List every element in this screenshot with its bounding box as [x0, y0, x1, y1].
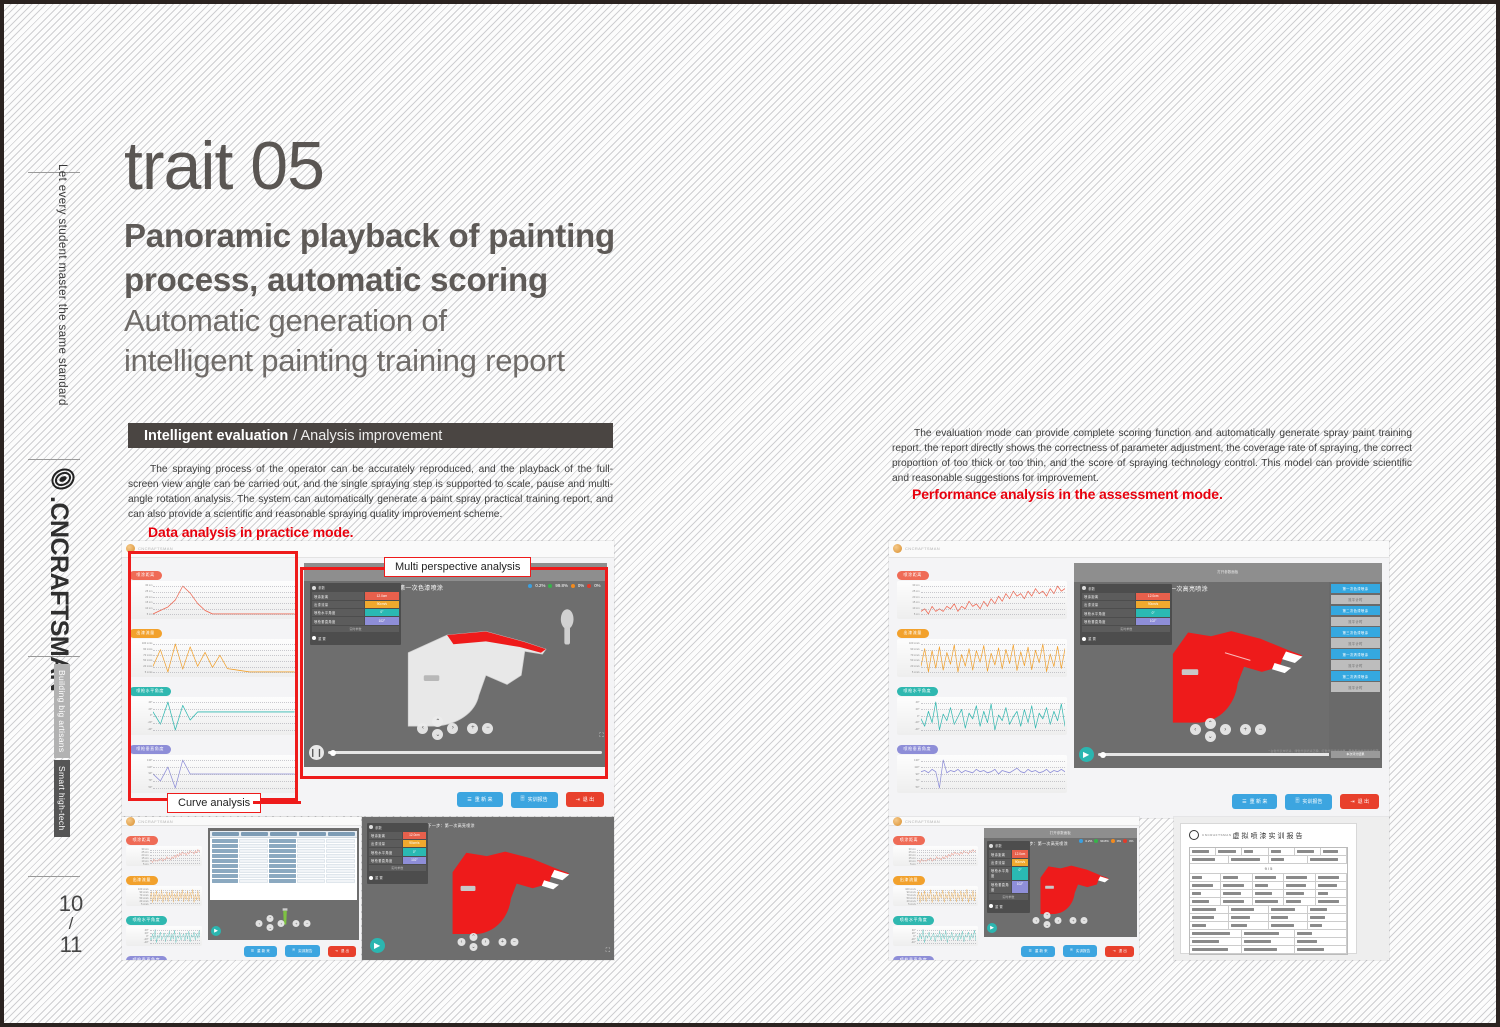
legend-value: 0.2%	[1085, 839, 1092, 843]
app-title: CNCRAFTSMAN	[138, 819, 173, 824]
report-cell	[1316, 874, 1347, 881]
play-button[interactable]: ▶	[370, 938, 385, 953]
report-document[interactable]: CNCRAFTSMAN 虚拟喷漆实训报告 9 / 5	[1180, 823, 1357, 954]
chart-line	[921, 699, 1065, 733]
report-cell-text	[1310, 924, 1322, 927]
left-red-caption: Data analysis in practice mode.	[148, 524, 353, 540]
nav-vertical-group[interactable]: ⌃ ⌄	[267, 915, 274, 931]
axis-tick: 40°	[899, 701, 920, 704]
legend-dot-icon	[1094, 839, 1098, 843]
thumbnail-coverage-view[interactable]: 下一步：第一次高亮喷涂 参数喷涂距离12.0cm出漆流量90cm/s喷枪水平角度…	[362, 817, 614, 960]
viewer-3d-thumb[interactable]: 下一步：第一次高亮喷涂 参数喷涂距离12.0cm出漆流量90cm/s喷枪水平角度…	[362, 817, 614, 960]
chart-y-axis: 40°20°0°-20°-40°	[899, 699, 921, 733]
chart-y-axis: 30 cm25 cm20 cm15 cm10 cm5 cm	[899, 583, 921, 617]
report-cell-text	[1318, 892, 1328, 895]
chart-label: 喷枪垂直角度	[893, 956, 935, 960]
axis-tick: 10 cm	[131, 607, 152, 610]
report-cell	[1242, 938, 1294, 945]
app-window-practice: CNCRAFTSMAN 喷涂距离30 cm25 cm20 cm15 cm10 c…	[122, 541, 614, 816]
report-cell-text	[1297, 940, 1317, 943]
report-cell-text	[1192, 850, 1209, 853]
report-cell-text	[1192, 858, 1215, 861]
viewer-nav-pad[interactable]: ‹ ⌃ ⌄ › + −	[256, 915, 311, 931]
table-cell-value	[239, 854, 268, 858]
report-cell-text	[1192, 892, 1201, 895]
report-row	[1190, 906, 1347, 914]
axis-tick: 100 cm/s	[131, 642, 152, 645]
thumbnail-parameter-table[interactable]: CNCRAFTSMAN 喷涂距离30 cm25 cm20 cm15 cm10 c…	[122, 817, 361, 960]
chart-label: 出漆流量	[897, 629, 929, 638]
step-item[interactable]: 第二次色漆喷涂	[1331, 606, 1379, 615]
chart-label: 喷枪水平角度	[893, 916, 935, 925]
report-cell	[1269, 914, 1308, 921]
nav-vertical-group[interactable]: ⌃ ⌄	[432, 716, 443, 740]
nav-left-icon[interactable]: ‹	[458, 938, 466, 946]
chart-group: 喷枪垂直角度130°110°90°70°50°	[126, 948, 202, 960]
thumbnail-assessment-replay[interactable]: CNCRAFTSMAN 喷涂距离30 cm25 cm20 cm15 cm10 c…	[889, 817, 1139, 960]
report-cell	[1229, 922, 1268, 929]
report-row	[1190, 856, 1347, 864]
report-cell-text	[1255, 892, 1273, 895]
chart-line	[150, 928, 200, 944]
hud-key: 喷枪垂直角度	[312, 617, 364, 624]
chart-group: 出漆流量100 cm/s90 cm/s70 cm/s50 cm/s20 cm/s…	[893, 868, 978, 906]
report-cell-text	[1231, 858, 1260, 861]
report-icon: 🗏	[521, 796, 525, 804]
hud-key: 喷枪水平角度	[1082, 609, 1135, 616]
app-logo-icon	[893, 544, 902, 553]
report-cell	[1284, 898, 1315, 905]
chart-plot-area: 30 cm25 cm20 cm15 cm10 cm5 cm	[126, 846, 202, 866]
axis-tick: 90 cm/s	[899, 648, 920, 651]
action-button[interactable]: ☰重 新 来	[1021, 946, 1054, 957]
table-header-chip	[270, 832, 297, 836]
report-cell	[1190, 946, 1242, 953]
chart-line	[153, 583, 294, 617]
chart-y-axis: 40°20°0°-20°-40°	[895, 928, 917, 944]
report-cell	[1253, 882, 1284, 889]
table-cell-key	[269, 869, 296, 873]
chart-y-axis: 40°20°0°-20°-40°	[128, 928, 150, 944]
report-cell	[1295, 930, 1347, 937]
action-button[interactable]: ⇥退 出	[328, 946, 357, 957]
brand-name: .CNCRAFTSMAN	[44, 496, 73, 691]
action-button[interactable]: ☰重 新 来	[244, 946, 277, 957]
report-cell	[1190, 882, 1221, 889]
legend-value: 0%	[594, 583, 600, 588]
playback-bar[interactable]: ❙❙	[309, 745, 603, 760]
nav-up-icon[interactable]: ⌃	[470, 933, 478, 941]
viewer-3d-assessment[interactable]: 打开参数面板 下一步：第一次高亮喷涂 13.7% 参数喷涂距离12.0cm出漆流…	[1074, 563, 1382, 768]
chart-label: 喷涂距离	[893, 836, 925, 845]
step-item[interactable]: 流平计时	[1331, 638, 1379, 647]
chart-group: 喷枪垂直角度130°110°90°70°50°	[893, 948, 978, 960]
fender-model-sprayed	[417, 831, 593, 945]
list-icon: ☰	[467, 797, 471, 803]
rail-divider	[28, 172, 80, 173]
rail-tagline: Let every student master the same standa…	[56, 164, 68, 406]
report-cell-text	[1192, 900, 1209, 903]
chart-plot-area: 130°110°90°70°50°	[897, 755, 1067, 793]
hud-key: 喷涂距离	[1082, 593, 1135, 600]
report-cell-text	[1244, 932, 1278, 935]
legend-value: 0.2%	[535, 583, 545, 588]
viewer-nav-pad[interactable]: ‹ ⌃ ⌄ › + −	[417, 716, 493, 740]
table-cell-key	[212, 844, 239, 848]
action-button[interactable]: ☰重 新 来	[1232, 794, 1277, 809]
nav-left-icon[interactable]: ‹	[1190, 724, 1201, 735]
chart-line	[917, 888, 976, 904]
report-cell	[1221, 890, 1252, 897]
report-cell	[1308, 922, 1347, 929]
action-button-row[interactable]: ☰重 新 来🗏实训报告⇥退 出	[1021, 945, 1134, 957]
list-icon: ☰	[1242, 799, 1246, 805]
chart-line	[917, 848, 976, 864]
report-band: 9 / 5	[1190, 864, 1347, 874]
report-cell	[1269, 906, 1308, 913]
list-icon: ☰	[1029, 949, 1032, 953]
report-cell-text	[1255, 900, 1278, 903]
exit-icon: ⇥	[335, 949, 338, 953]
report-row	[1190, 930, 1347, 938]
hud-key: 喷枪垂直角度	[369, 857, 402, 864]
zoom-in-icon[interactable]: +	[293, 920, 300, 927]
report-row	[1190, 890, 1347, 898]
play-button[interactable]: ▶	[1079, 747, 1094, 762]
chart-group: 出漆流量100 cm/s90 cm/s70 cm/s50 cm/s20 cm/s…	[126, 868, 202, 906]
viewer-status-text: 下一步：第一次高亮喷涂	[428, 823, 475, 829]
axis-tick: -20°	[899, 721, 920, 724]
zoom-out-icon[interactable]: −	[304, 920, 311, 927]
callout-connector	[253, 801, 301, 804]
report-cell	[1221, 874, 1252, 881]
viewer-toolbar[interactable]: 打开参数面板	[984, 828, 1137, 838]
chart-label: 喷枪水平角度	[897, 687, 939, 696]
nav-right-icon[interactable]: ›	[1055, 917, 1062, 924]
chart-plot-area: 100 cm/s90 cm/s70 cm/s50 cm/s20 cm/s5 cm…	[129, 639, 296, 677]
page-separator: /	[54, 915, 88, 933]
coverage-legend: 0.2%99.8%0%0%	[1079, 839, 1133, 843]
zoom-in-icon[interactable]: +	[499, 938, 507, 946]
badge-stack: Building big artisans Smart high-tech	[54, 664, 70, 837]
viewer-nav-pad[interactable]: ‹ ⌃ ⌄ › + −	[458, 933, 519, 951]
table-cell-value	[239, 874, 268, 878]
viewer-nav-pad[interactable]: ‹ ⌃ ⌄ › + −	[1190, 718, 1266, 742]
zoom-out-icon[interactable]: −	[1255, 724, 1266, 735]
nav-down-icon[interactable]: ⌄	[1205, 731, 1216, 742]
trait-label: trait 05	[124, 132, 824, 200]
chart-y-axis: 100 cm/s90 cm/s70 cm/s50 cm/s20 cm/s5 cm…	[895, 888, 917, 904]
nav-up-icon[interactable]: ⌃	[267, 915, 274, 922]
table-cell-value	[297, 869, 326, 873]
hud-title: 参数	[1082, 586, 1170, 591]
pause-button[interactable]: ❙❙	[309, 745, 324, 760]
table-row	[210, 849, 358, 853]
axis-tick: 25 cm	[131, 590, 152, 593]
table-cell-key	[212, 874, 239, 878]
app-header: CNCRAFTSMAN	[122, 541, 614, 558]
chart-y-axis: 130°110°90°70°50°	[899, 757, 921, 791]
report-cell	[1253, 898, 1284, 905]
axis-tick: 25 cm	[899, 590, 920, 593]
report-cell-text	[1192, 932, 1230, 935]
report-cell-text	[1286, 892, 1304, 895]
report-cell	[1253, 874, 1284, 881]
nav-vertical-group[interactable]: ⌃ ⌄	[1044, 912, 1051, 928]
hud-dot-icon	[989, 844, 993, 848]
zoom-out-icon[interactable]: −	[482, 723, 493, 734]
table-cell-value	[239, 864, 268, 868]
viewer-3d-thumb[interactable]: 打开参数面板 下一步：第一次高亮喷涂 0.2%99.8%0%0% 参数喷涂距离1…	[984, 828, 1137, 937]
action-button[interactable]: 🗏实训报告	[1063, 945, 1098, 957]
report-row	[1190, 922, 1347, 930]
report-cell-text	[1286, 876, 1307, 879]
report-brand: CNCRAFTSMAN	[1202, 833, 1232, 837]
report-cell	[1295, 938, 1347, 945]
table-cell-key	[269, 864, 296, 868]
action-button[interactable]: 🗏实训报告	[1285, 794, 1332, 810]
axis-tick: 20°	[899, 708, 920, 711]
nav-up-icon[interactable]: ⌃	[432, 716, 443, 727]
hud-key: 喷枪垂直角度	[1082, 618, 1135, 625]
zoom-out-icon[interactable]: −	[511, 938, 519, 946]
section-bar-strong: Intelligent evaluation	[144, 428, 288, 444]
action-button[interactable]: ⇥退 出	[1105, 946, 1134, 957]
axis-tick: 130°	[131, 759, 152, 762]
axis-tick: 130°	[899, 759, 920, 762]
zoom-in-icon[interactable]: +	[467, 723, 478, 734]
zoom-in-icon[interactable]: +	[1070, 917, 1077, 924]
headline-bold: Panoramic playback of painting process, …	[124, 214, 824, 301]
page-current: 10	[54, 892, 88, 915]
axis-tick: -40°	[899, 728, 920, 731]
chart-y-axis: 40°20°0°-20°-40°	[131, 699, 153, 733]
hud-title: 参数	[369, 825, 425, 830]
step-list[interactable]: 第一次色漆喷涂流平计时第二次色漆喷涂流平计时第三次色漆喷涂流平计时第一次清漆喷涂…	[1329, 582, 1381, 760]
badge-smart-high-tech: Smart high-tech	[54, 760, 70, 837]
report-cell	[1216, 848, 1242, 855]
playback-knob[interactable]	[1100, 752, 1106, 758]
chart-label: 喷涂距离	[897, 571, 929, 580]
step-item[interactable]: 流平计时	[1331, 595, 1379, 604]
report-cell-text	[1310, 858, 1339, 861]
step-item[interactable]: 第三次色漆喷涂	[1331, 627, 1379, 636]
axis-tick: 90 cm/s	[131, 648, 152, 651]
axis-tick: 70 cm/s	[131, 654, 152, 657]
step-item[interactable]: 流平计时	[1331, 660, 1379, 669]
nav-down-icon[interactable]: ⌄	[432, 729, 443, 740]
nav-left-icon[interactable]: ‹	[417, 723, 428, 734]
action-button[interactable]: ⇥退 出	[1340, 794, 1379, 809]
action-button[interactable]: ⇥退 出	[566, 792, 605, 807]
axis-tick: 20°	[131, 708, 152, 711]
viewer-nav-pad[interactable]: ‹ ⌃ ⌄ › + −	[1033, 912, 1088, 928]
report-cell	[1316, 890, 1347, 897]
hud-key: 喷枪水平角度	[312, 609, 364, 616]
chart-plot-area: 30 cm25 cm20 cm15 cm10 cm5 cm	[893, 846, 978, 866]
list-icon: ☰	[251, 949, 254, 953]
legend-value: 0%	[1129, 839, 1133, 843]
app-window-thumb: CNCRAFTSMAN 喷涂距离30 cm25 cm20 cm15 cm10 c…	[122, 817, 361, 960]
chart-label: 喷枪水平角度	[126, 916, 168, 925]
table-cell-key	[269, 859, 296, 863]
app-logo-icon	[126, 817, 135, 826]
legend-value: 99.8%	[1100, 839, 1109, 843]
play-button[interactable]: ▶	[987, 923, 997, 933]
action-button[interactable]: 🗏实训报告	[511, 792, 558, 808]
action-button-row[interactable]: ☰重 新 来🗏实训报告⇥退 出	[244, 945, 357, 957]
chart-plot-area: 30 cm25 cm20 cm15 cm10 cm5 cm	[897, 581, 1067, 619]
axis-tick: 5 cm	[128, 863, 149, 866]
practice-mode-screenshot: CNCRAFTSMAN 喷涂距离30 cm25 cm20 cm15 cm10 c…	[122, 541, 614, 816]
report-cell-text	[1192, 876, 1202, 879]
action-button[interactable]: ☰重 新 来	[457, 792, 502, 807]
nav-right-icon[interactable]: ›	[482, 938, 490, 946]
chart-line	[921, 757, 1065, 791]
nav-left-icon[interactable]: ‹	[1033, 917, 1040, 924]
nav-down-icon[interactable]: ⌄	[267, 924, 274, 931]
report-cell-text	[1255, 876, 1276, 879]
report-cell	[1269, 848, 1295, 855]
nav-right-icon[interactable]: ›	[278, 920, 285, 927]
chart-plot-area: 100 cm/s90 cm/s70 cm/s50 cm/s20 cm/s5 cm…	[126, 886, 202, 906]
chart-label: 出漆流量	[893, 876, 925, 885]
page-root: Let every student master the same standa…	[0, 0, 1500, 1027]
section-bar-rest: / Analysis improvement	[293, 428, 442, 444]
chart-label: 出漆流量	[126, 876, 158, 885]
curve-analysis-panel: 喷涂距离30 cm25 cm20 cm15 cm10 cm5 cm出漆流量100…	[897, 563, 1067, 810]
chart-group: 喷枪水平角度40°20°0°-20°-40°	[893, 908, 978, 946]
playback-track[interactable]	[328, 751, 603, 754]
legend-value: 0%	[1117, 839, 1121, 843]
action-button-row[interactable]: ☰重 新 来🗏实训报告⇥退 出	[457, 792, 604, 808]
axis-tick: 70°	[131, 779, 152, 782]
report-row	[1190, 914, 1347, 922]
table-row	[210, 844, 358, 848]
nav-up-icon[interactable]: ⌃	[1205, 718, 1216, 729]
table-cell-value	[297, 864, 326, 868]
step-item[interactable]: 第二次清漆喷涂	[1331, 671, 1379, 680]
table-cell-value	[239, 839, 268, 843]
action-button-label: 重 新 来	[1035, 949, 1048, 954]
headline-bold-line2: process, automatic scoring	[124, 258, 824, 302]
axis-tick: 30 cm	[131, 584, 152, 587]
thumbnail-training-report[interactable]: CNCRAFTSMAN 虚拟喷漆实训报告 9 / 5	[1174, 817, 1389, 960]
report-cell-text	[1271, 850, 1282, 853]
action-button[interactable]: 🗏实训报告	[285, 945, 320, 957]
report-row	[1190, 946, 1347, 954]
table-cell-key	[212, 839, 239, 843]
nav-down-icon[interactable]: ⌄	[1044, 921, 1051, 928]
chart-group: 喷涂距离30 cm25 cm20 cm15 cm10 cm5 cm	[129, 563, 296, 619]
report-cell	[1321, 848, 1347, 855]
app-title: CNCRAFTSMAN	[905, 546, 940, 551]
axis-tick: 0°	[131, 714, 152, 717]
table-row	[210, 859, 358, 863]
step-item[interactable]: 第一次色漆喷涂	[1331, 584, 1379, 593]
zoom-in-icon[interactable]: +	[1240, 724, 1251, 735]
step-item[interactable]: 流平计时	[1331, 682, 1379, 691]
zoom-out-icon[interactable]: −	[1081, 917, 1088, 924]
parameter-table[interactable]	[210, 831, 358, 900]
playback-knob[interactable]	[330, 750, 336, 756]
cncraftsman-logo-icon	[50, 466, 76, 492]
step-item[interactable]: 流平计时	[1331, 617, 1379, 626]
action-button-label: 实训报告	[528, 796, 548, 803]
axis-tick: 50 cm/s	[131, 659, 152, 662]
table-cell-value	[326, 844, 355, 848]
exit-icon: ⇥	[1113, 949, 1116, 953]
hud-key: 喷枪水平角度	[989, 867, 1011, 879]
nav-right-icon[interactable]: ›	[1220, 724, 1231, 735]
viewer-3d-thumb[interactable]: ‹ ⌃ ⌄ › + − ▶	[208, 828, 359, 940]
report-cell	[1284, 874, 1315, 881]
table-row	[210, 839, 358, 843]
table-cell-value	[297, 859, 326, 863]
play-button[interactable]: ▶	[211, 926, 221, 936]
axis-tick: -20°	[131, 721, 152, 724]
report-cell	[1295, 848, 1321, 855]
nav-vertical-group[interactable]: ⌃ ⌄	[1205, 718, 1216, 742]
report-row	[1190, 938, 1347, 946]
hud-key: 出漆流量	[312, 601, 364, 608]
report-cell	[1242, 930, 1294, 937]
chart-plot-area: 100 cm/s90 cm/s70 cm/s50 cm/s20 cm/s5 cm…	[893, 886, 978, 906]
report-cell-text	[1310, 916, 1325, 919]
nav-up-icon[interactable]: ⌃	[1044, 912, 1051, 919]
chart-label: 喷枪水平角度	[129, 687, 171, 696]
hud-title: 参数	[312, 585, 399, 590]
report-cell-text	[1192, 884, 1213, 887]
step-item[interactable]: 第一次清漆喷涂	[1331, 649, 1379, 658]
reset-dot-icon	[989, 904, 993, 908]
action-button-row[interactable]: ☰重 新 来🗏实训报告⇥退 出	[1232, 794, 1379, 810]
nav-vertical-group[interactable]: ⌃ ⌄	[470, 933, 478, 951]
chart-group: 喷枪垂直角度130°110°90°70°50°	[897, 737, 1067, 793]
viewer-3d-practice[interactable]: 打开参数面板 正在运行：第一次色漆喷涂 0.2%99.8%0%0% 参数喷涂距离…	[304, 563, 607, 767]
callout-curve-analysis: Curve analysis	[167, 793, 261, 813]
hud-key: 喷涂距离	[369, 832, 402, 839]
axis-tick: 5 cm/s	[131, 671, 152, 674]
report-row	[1190, 848, 1347, 856]
legend-dot-icon	[528, 584, 532, 588]
nav-down-icon[interactable]: ⌄	[470, 943, 478, 951]
report-cell-text	[1255, 884, 1268, 887]
report-cell-text	[1318, 884, 1337, 887]
fullscreen-icon[interactable]: ⛶	[599, 733, 603, 740]
report-row	[1190, 882, 1347, 890]
report-cell	[1308, 914, 1347, 921]
table-cell-value	[297, 854, 326, 858]
action-button-label: 退 出	[583, 796, 594, 803]
table-cell-key	[212, 869, 239, 873]
table-cell-key	[269, 849, 296, 853]
report-cell-text	[1231, 924, 1246, 927]
axis-tick: 15 cm	[131, 601, 152, 604]
fullscreen-icon[interactable]: ⛶	[606, 948, 610, 955]
report-cell	[1229, 856, 1268, 863]
table-cell-key	[269, 874, 296, 878]
axis-tick: 40°	[131, 701, 152, 704]
hud-dot-icon	[369, 825, 373, 829]
nav-right-icon[interactable]: ›	[447, 723, 458, 734]
nav-left-icon[interactable]: ‹	[256, 920, 263, 927]
axis-tick: 50°	[899, 786, 920, 789]
chart-line	[917, 928, 976, 944]
table-cell-value	[326, 859, 355, 863]
viewer-toolbar[interactable]: 打开参数面板	[1074, 563, 1382, 581]
chart-label: 喷涂距离	[126, 836, 158, 845]
